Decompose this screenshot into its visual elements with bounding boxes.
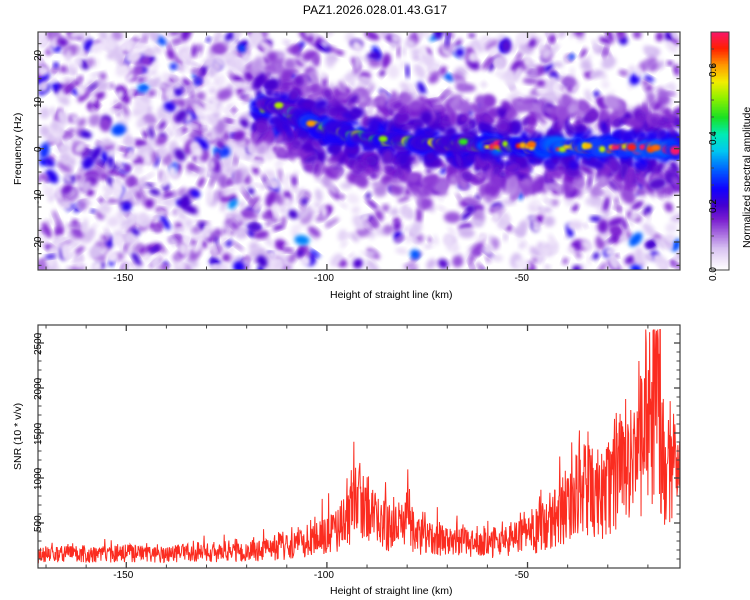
colorbar-tick: 0.2 <box>708 199 719 213</box>
snr-ytick: 1000 <box>33 468 44 490</box>
colorbar-label: Normalized spectral amplitude <box>741 107 750 248</box>
snr-ytick: 2500 <box>33 333 44 355</box>
snr-xlabel: Height of straight line (km) <box>330 585 453 597</box>
snr-ytick: 500 <box>33 515 44 532</box>
snr-ytick: 2000 <box>33 378 44 400</box>
spectrogram-xtick: -100 <box>314 273 334 284</box>
spectrogram-ytick: 0 <box>33 146 44 152</box>
spectrogram-panel <box>0 0 750 300</box>
spectrogram-xtick: -50 <box>515 273 529 284</box>
colorbar-tick: 0.4 <box>708 131 719 145</box>
snr-xtick: -100 <box>314 570 334 581</box>
colorbar-tick: 0.0 <box>708 267 719 281</box>
spectrogram-ylabel: Frequency (Hz) <box>12 113 24 185</box>
spectrogram-ytick: 20 <box>33 50 44 61</box>
spectrogram-xtick: -150 <box>113 273 133 284</box>
spectrogram-ytick: 10 <box>33 97 44 108</box>
snr-xtick: -150 <box>113 570 133 581</box>
snr-xtick: -50 <box>515 570 529 581</box>
snr-ylabel: SNR (10 * v/v) <box>12 403 24 470</box>
snr-panel <box>0 300 750 600</box>
spectrogram-ytick: -20 <box>33 237 44 251</box>
figure-canvas: PAZ1.2026.028.01.43.G17 Height of straig… <box>0 0 750 600</box>
snr-ytick: 1500 <box>33 423 44 445</box>
colorbar-tick: 0.6 <box>708 63 719 77</box>
spectrogram-ytick: -10 <box>33 190 44 204</box>
